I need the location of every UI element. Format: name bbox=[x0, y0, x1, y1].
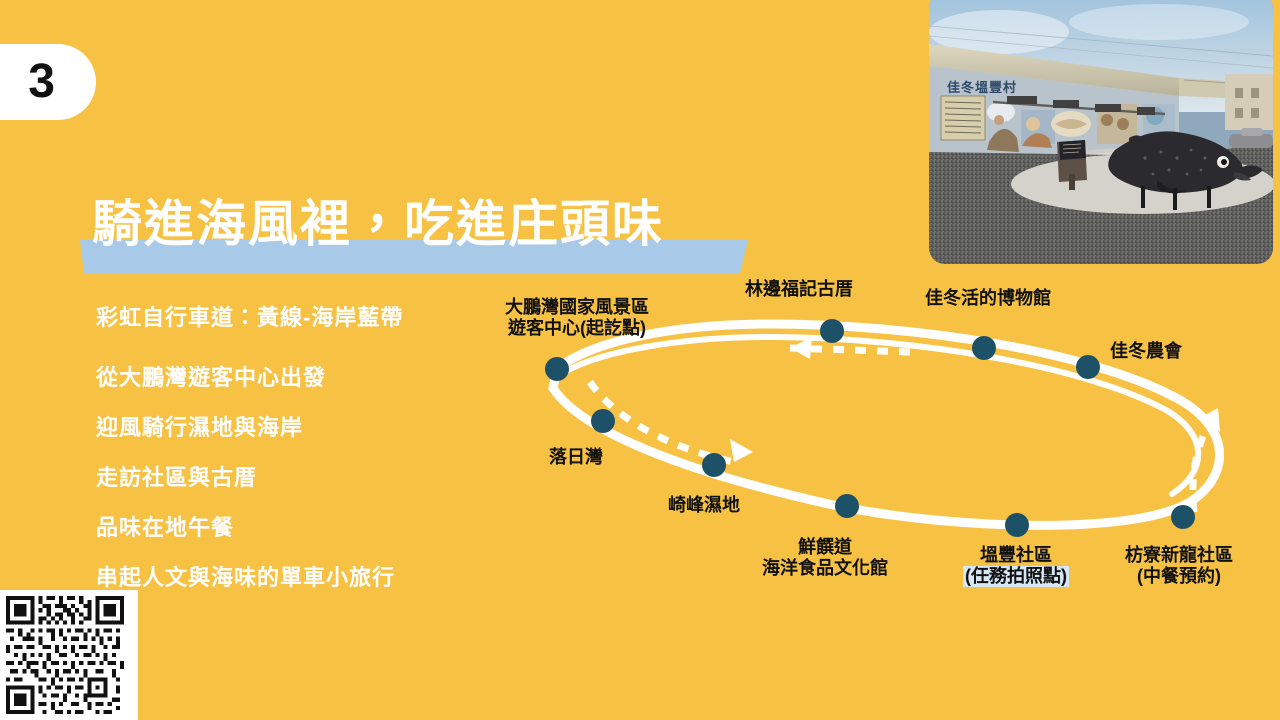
stop-label-line1: 大鵬灣國家風景區 bbox=[505, 297, 649, 318]
list-item: 品味在地午餐 bbox=[96, 510, 516, 542]
stop-label-line2: (中餐預約) bbox=[1125, 566, 1233, 587]
photo-illustration: 佳冬塭豐村 bbox=[929, 0, 1273, 264]
stop-label-jiadong-museum: 佳冬活的博物館 bbox=[925, 288, 1051, 309]
list-item: 從大鵬灣遊客中心出發 bbox=[96, 360, 516, 392]
stop-label-line2-wrap: (任務拍照點) bbox=[963, 566, 1069, 587]
stop-label-jiadong-farm: 佳冬農會 bbox=[1110, 341, 1182, 362]
stop-label-dapengwan: 大鵬灣國家風景區 遊客中心(起訖點) bbox=[505, 297, 649, 339]
stop-label-line2: 遊客中心(起訖點) bbox=[505, 318, 649, 339]
stop-label-yanfeng: 塭豐社區 (任務拍照點) bbox=[963, 545, 1069, 587]
stop-label-fangliao: 枋寮新龍社區 (中餐預約) bbox=[1125, 545, 1233, 587]
stop-dot-xianzhuan[interactable] bbox=[835, 494, 859, 518]
qr-code[interactable] bbox=[6, 596, 124, 714]
slide-canvas: 3 騎進海風裡，吃進庄頭味 彩虹自行車道：黃線-海岸藍帶 從大鵬灣遊客中心出發 … bbox=[0, 0, 1280, 720]
route-path-inner bbox=[558, 337, 1198, 494]
stop-label-line1: 崎峰濕地 bbox=[668, 495, 740, 516]
stop-dot-dapengwan[interactable] bbox=[545, 357, 569, 381]
stop-label-xianzhuan: 鮮饌道 海洋食品文化館 bbox=[762, 537, 888, 579]
qr-code-card[interactable] bbox=[0, 590, 138, 720]
stop-label-luoriwan: 落日灣 bbox=[549, 447, 603, 468]
stop-dot-jiadong-museum[interactable] bbox=[972, 336, 996, 360]
slide-number-badge: 3 bbox=[0, 44, 96, 120]
stop-label-line1: 佳冬活的博物館 bbox=[925, 288, 1051, 309]
list-item: 迎風騎行濕地與海岸 bbox=[96, 410, 516, 442]
stop-dot-yanfeng[interactable] bbox=[1005, 513, 1029, 537]
stop-label-line1: 塭豐社區 bbox=[963, 545, 1069, 566]
stop-label-linbian: 林邊福記古厝 bbox=[745, 279, 853, 300]
stop-label-line1: 枋寮新龍社區 bbox=[1125, 545, 1233, 566]
stop-label-line1: 佳冬農會 bbox=[1110, 341, 1182, 362]
stop-dot-linbian[interactable] bbox=[820, 319, 844, 343]
list-item: 走訪社區與古厝 bbox=[96, 460, 516, 492]
stop-label-line1: 落日灣 bbox=[549, 447, 603, 468]
stop-dot-qifeng[interactable] bbox=[702, 453, 726, 477]
list-item: 串起人文與海味的單車小旅行 bbox=[96, 560, 516, 592]
slide-number: 3 bbox=[28, 58, 54, 106]
page-title: 騎進海風裡，吃進庄頭味 bbox=[80, 196, 780, 282]
subheading: 彩虹自行車道：黃線-海岸藍帶 bbox=[96, 300, 403, 332]
stop-dot-luoriwan[interactable] bbox=[591, 409, 615, 433]
stop-label-line1: 鮮饌道 bbox=[762, 537, 888, 558]
bullet-list: 從大鵬灣遊客中心出發 迎風騎行濕地與海岸 走訪社區與古厝 品味在地午餐 串起人文… bbox=[96, 360, 516, 610]
stop-label-qifeng: 崎峰濕地 bbox=[668, 495, 740, 516]
stop-label-line1: 林邊福記古厝 bbox=[745, 279, 853, 300]
village-mural-photo: 佳冬塭豐村 bbox=[929, 0, 1273, 264]
stop-dot-jiadong-farm[interactable] bbox=[1076, 355, 1100, 379]
stop-label-line2: 海洋食品文化館 bbox=[762, 558, 888, 579]
stop-dot-fangliao[interactable] bbox=[1171, 505, 1195, 529]
svg-text:佳冬塭豐村: 佳冬塭豐村 bbox=[947, 80, 1017, 95]
title-text: 騎進海風裡，吃進庄頭味 bbox=[92, 196, 664, 254]
stop-label-line2-highlight: (任務拍照點) bbox=[963, 566, 1069, 587]
